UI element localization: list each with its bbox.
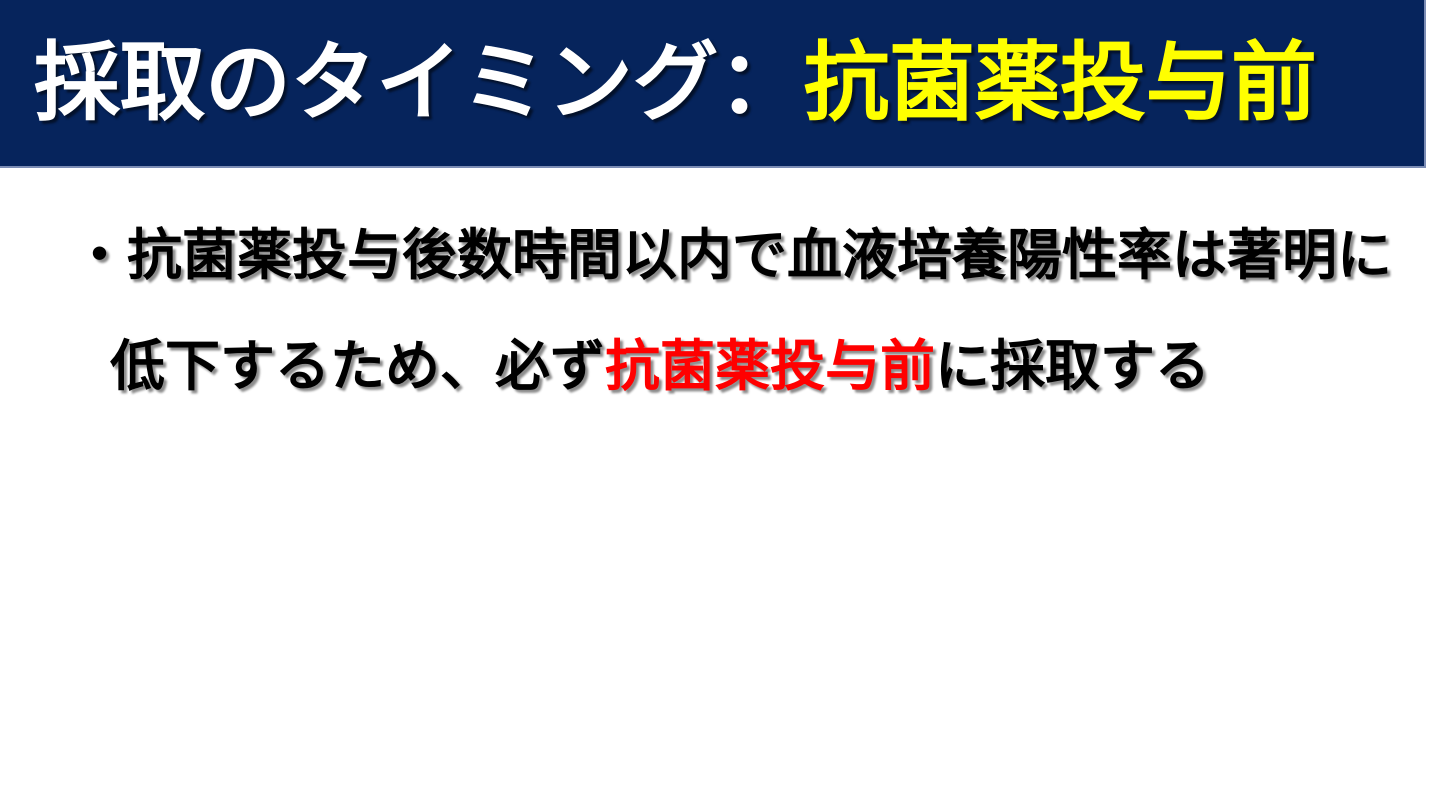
- bullet-line-two-emphasis: 抗菌薬投与前: [605, 335, 935, 397]
- slide-body: ・抗菌薬投与後数時間以内で血液培養陽性率は著明に 低下するため、必ず抗菌薬投与前…: [0, 228, 1440, 394]
- bullet-line-one-text: 抗菌薬投与後数時間以内で血液培養陽性率は著明に: [127, 224, 1392, 286]
- bullet-line-two-text-before: 低下するため、必ず: [110, 335, 605, 397]
- slide-title-bar: 採取のタイミング：抗菌薬投与前: [0, 0, 1426, 168]
- bullet-line-one: ・抗菌薬投与後数時間以内で血液培養陽性率は著明に: [72, 228, 1440, 283]
- bullet-line-two: 低下するため、必ず抗菌薬投与前に採取する: [110, 339, 1440, 394]
- title-segment-separator: ：: [718, 35, 804, 131]
- page-title: 採取のタイミング：抗菌薬投与前: [34, 40, 1317, 126]
- slide-empty-area: [0, 440, 1440, 810]
- title-segment-highlight: 抗菌薬投与前: [804, 35, 1317, 131]
- slide-canvas: 採取のタイミング：抗菌薬投与前 ・抗菌薬投与後数時間以内で血液培養陽性率は著明に…: [0, 0, 1440, 810]
- title-segment-primary: 採取のタイミング: [34, 35, 718, 131]
- bullet-marker-icon: ・: [72, 224, 127, 286]
- bullet-line-two-text-after: に採取する: [935, 335, 1210, 397]
